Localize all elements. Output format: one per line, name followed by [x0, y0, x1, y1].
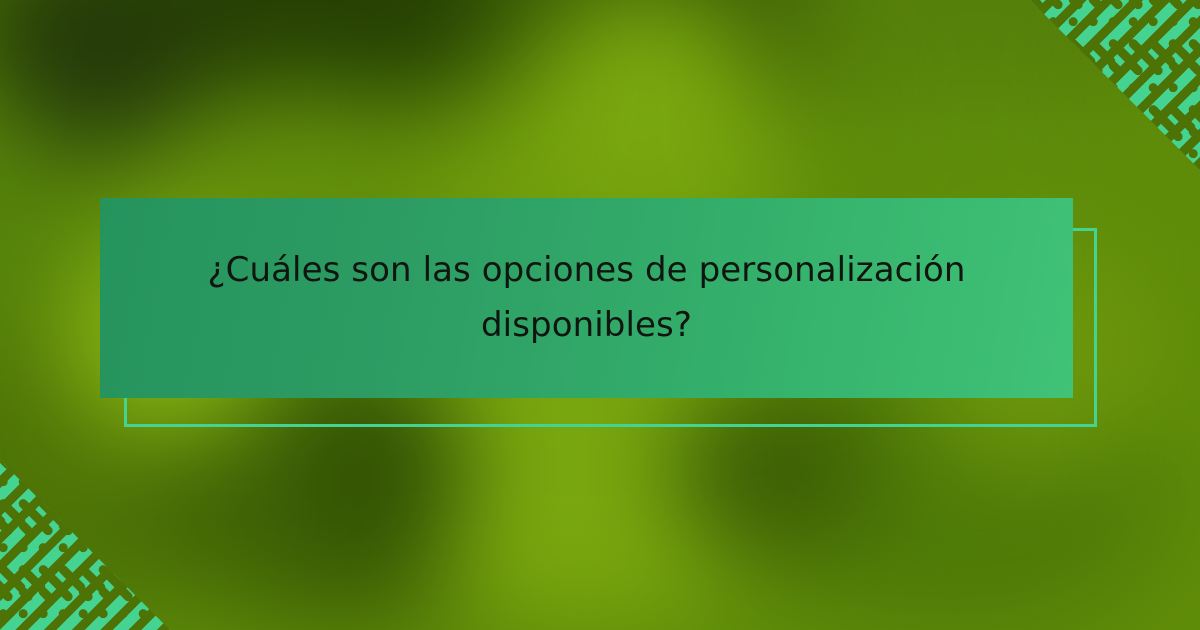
quote-text: ¿Cuáles son las opciones de personalizac…	[207, 243, 967, 353]
quote-card: ¿Cuáles son las opciones de personalizac…	[100, 198, 1073, 398]
background-blob	[530, 0, 760, 210]
poster-canvas: ¿Cuáles son las opciones de personalizac…	[0, 0, 1200, 630]
